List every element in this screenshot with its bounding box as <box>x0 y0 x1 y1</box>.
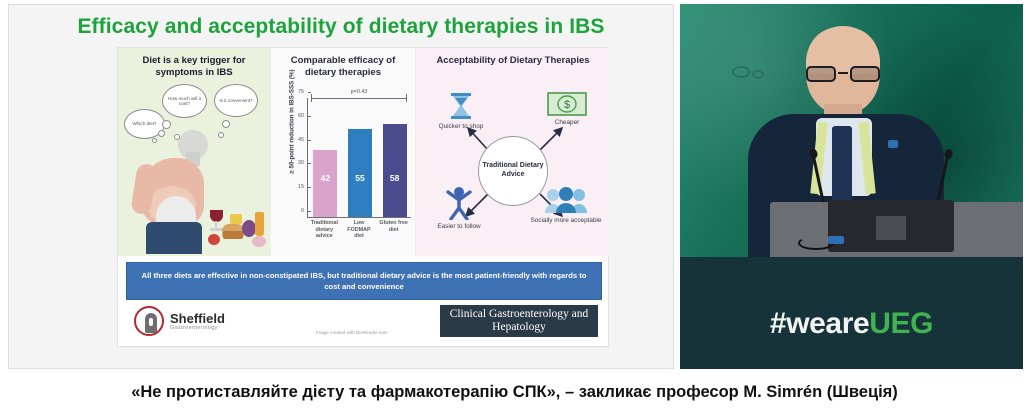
screenshot-root: Efficacy and acceptability of dietary th… <box>0 0 1029 413</box>
chart-x-labels: Traditional dietary advice Low FODMAP di… <box>307 220 411 240</box>
speaker-figure <box>742 22 954 262</box>
desk-object <box>828 236 844 244</box>
node-socially-acceptable: Socially more acceptable <box>528 186 604 224</box>
bar-value-gluten: 58 <box>390 173 400 183</box>
group-icon <box>544 186 588 214</box>
caption-bar: «Не протиставляйте дієту та фармакотерап… <box>0 371 1029 413</box>
hashtag-weare: #weare <box>770 307 869 340</box>
glasses-bridge <box>838 72 848 74</box>
lens-right <box>850 66 880 82</box>
x-label-fodmap: Low FODMAP diet <box>343 220 375 240</box>
panel-a-heading: Diet is a key trigger for symptoms in IB… <box>118 48 270 78</box>
grapes-icon <box>242 220 256 237</box>
y-tick-45: 45 <box>298 137 308 143</box>
bar-fodmap: 55 <box>348 129 372 217</box>
node-easier-to-follow: Easier to follow <box>428 186 490 230</box>
sheffield-logo: Sheffield Gastroenterology <box>134 306 225 336</box>
slide-container: Efficacy and acceptability of dietary th… <box>0 0 680 371</box>
node-quicker-to-shop: Quicker to shop <box>430 92 492 130</box>
node-label-quicker-to-shop: Quicker to shop <box>430 123 492 131</box>
slide-title: Efficacy and acceptability of dietary th… <box>9 15 673 39</box>
lens-left <box>806 66 836 82</box>
node-cheaper: $ Cheaper <box>532 92 602 126</box>
svg-text:$: $ <box>564 99 570 111</box>
tomato-icon <box>208 234 220 245</box>
y-tick-75: 75 <box>298 89 308 95</box>
x-label-gluten: Gluten free diet <box>378 220 410 240</box>
sheffield-text: Sheffield Gastroenterology <box>170 312 225 331</box>
photo-container: #weareUEG <box>680 0 1029 371</box>
figure: Diet is a key trigger for symptoms in IB… <box>117 47 609 347</box>
y-tick-15: 15 <box>298 184 308 190</box>
bar-traditional: 42 <box>313 150 337 217</box>
panel-efficacy-chart: Comparable efficacy of dietary therapies… <box>270 48 416 256</box>
node-label-socially-acceptable: Socially more acceptable <box>528 217 604 225</box>
podium-front-panel: #weareUEG <box>680 257 1023 369</box>
bar-value-fodmap: 55 <box>355 173 365 183</box>
speaker-tie <box>832 126 852 204</box>
cheese-icon <box>230 214 242 224</box>
eyeglasses-icon <box>804 66 882 82</box>
laptop-screen <box>828 200 954 252</box>
slide: Efficacy and acceptability of dietary th… <box>8 4 674 369</box>
hourglass-icon <box>448 92 474 120</box>
article-caption: «Не протиставляйте дієту та фармакотерап… <box>131 383 898 402</box>
person-icon <box>444 186 474 220</box>
hashtag-ueg: UEG <box>869 307 933 340</box>
journal-logo: Clinical Gastroenterology and Hepatology <box>440 305 598 337</box>
media-row: Efficacy and acceptability of dietary th… <box>0 0 1029 371</box>
panel-acceptability: Acceptability of Dietary Therapies <box>416 48 610 256</box>
money-icon: $ <box>547 92 587 116</box>
sheffield-name: Sheffield <box>170 312 225 325</box>
node-label-cheaper: Cheaper <box>532 119 602 127</box>
panel-c-heading: Acceptability of Dietary Therapies <box>416 48 610 67</box>
bubble-dot <box>222 120 230 128</box>
y-tick-60: 60 <box>298 113 308 119</box>
node-label-easier-to-follow: Easier to follow <box>428 223 490 231</box>
biorender-credit: Image created with BioRender.com <box>316 330 388 335</box>
x-label-traditional: Traditional dietary advice <box>308 220 340 240</box>
sheffield-sub: Gastroenterology <box>170 325 225 331</box>
chart-bars: 42 55 58 <box>308 97 412 217</box>
chart-y-axis-label: ≥ 50-point reduction in IBS-SSS (%) <box>289 64 296 180</box>
speaker-photo: #weareUEG <box>680 4 1023 369</box>
juice-bottle-icon <box>255 212 264 236</box>
bubble-dot <box>162 120 171 129</box>
sheffield-emblem-icon <box>134 306 164 336</box>
bar-chart: ≥ 50-point reduction in IBS-SSS (%) p=0.… <box>277 84 417 252</box>
y-tick-0: 0 <box>301 208 308 214</box>
thought-bubble-cost: How much will it cost? <box>162 84 207 118</box>
logo-row: Sheffield Gastroenterology Image created… <box>126 304 602 346</box>
chart-plot-area: 0 15 30 45 60 75 42 <box>307 98 411 218</box>
thought-bubble-convenient: Is it convenient? <box>214 84 258 117</box>
patient-jeans <box>146 222 202 254</box>
ueg-hashtag: #weareUEG <box>680 307 1023 341</box>
donut-icon <box>252 236 266 247</box>
summary-banner: All three diets are effective in non-con… <box>126 262 602 300</box>
p-value-label: p=0.43 <box>307 89 411 95</box>
bread-bottom <box>223 231 243 239</box>
food-illustration <box>208 198 268 252</box>
lapel-pin <box>888 140 898 148</box>
figure-panels: Diet is a key trigger for symptoms in IB… <box>118 48 610 256</box>
panel-diet-trigger: Diet is a key trigger for symptoms in IB… <box>118 48 270 256</box>
bar-value-traditional: 42 <box>321 173 331 183</box>
bar-gluten: 58 <box>383 124 407 217</box>
acceptability-diagram: Traditional Dietary Advice Quicker to sh… <box>416 78 610 256</box>
y-tick-30: 30 <box>298 160 308 166</box>
